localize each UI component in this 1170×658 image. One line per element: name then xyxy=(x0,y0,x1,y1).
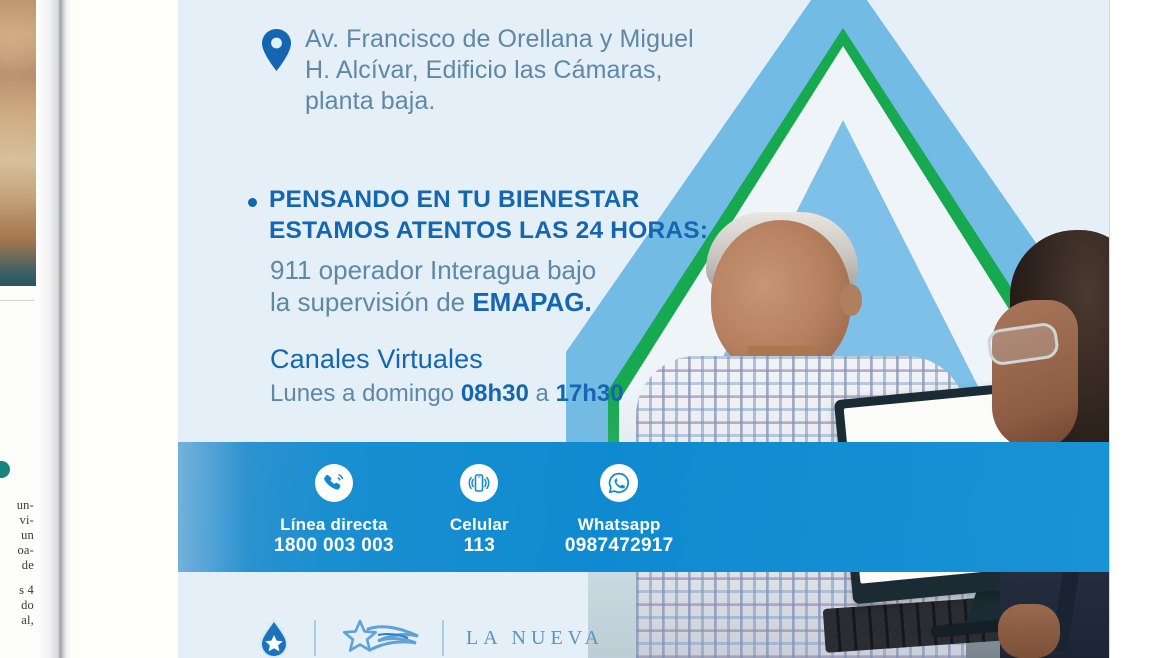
phone-ringing-icon xyxy=(315,464,353,502)
emergency-line-1: 911 operador Interagua bajo xyxy=(270,254,790,286)
page-gutter xyxy=(36,0,70,658)
emapag-mention: EMAPAG. xyxy=(472,287,591,317)
text-fragment: s 4 xyxy=(0,583,34,598)
green-dot-bullet-icon xyxy=(0,461,10,478)
headline-line-2: ESTAMOS ATENTOS LAS 24 HORAS: xyxy=(269,217,708,244)
viewer-right-margin xyxy=(1110,0,1170,658)
bullet-dot-icon xyxy=(248,198,257,207)
virtual-days: Lunes a domingo xyxy=(270,380,461,407)
contact-value: 0987472917 xyxy=(565,535,674,557)
star-swoosh-logo-icon xyxy=(338,616,420,658)
virtual-to: 17h30 xyxy=(556,380,624,407)
mobile-phone-icon xyxy=(460,464,498,502)
screenshot-root: un- vi- un oa- de s 4 do al, xyxy=(0,0,1170,658)
contact-item-linea-directa[interactable]: Línea directa 1800 003 003 xyxy=(274,464,394,557)
advertisement: TRABAJAMOS POR UNA NUEVA CIUDAD xyxy=(178,0,1131,658)
text-fragment: vi- xyxy=(0,513,34,528)
virtual-channels-title: Canales Virtuales xyxy=(270,344,483,375)
contact-label: Línea directa xyxy=(280,514,387,535)
contact-value: 113 xyxy=(464,535,496,557)
virtual-from: 08h30 xyxy=(461,380,529,407)
woman-face xyxy=(992,300,1078,450)
emergency-paragraph: 911 operador Interagua bajo la supervisi… xyxy=(270,254,790,318)
text-fragment: do xyxy=(0,598,34,613)
virtual-sep: a xyxy=(529,380,556,407)
logo-divider xyxy=(442,620,444,656)
contact-item-whatsapp[interactable]: Whatsapp 0987472917 xyxy=(565,464,674,557)
headline-block: PENSANDO EN TU BIENESTAR ESTAMOS ATENTOS… xyxy=(248,184,768,246)
text-fragment: al, xyxy=(0,613,34,628)
location-pin-icon xyxy=(260,28,293,77)
previous-page-photo xyxy=(0,0,36,286)
text-fragment: oa- xyxy=(0,543,34,558)
text-fragment: un xyxy=(0,528,34,543)
man-ear xyxy=(840,284,862,316)
previous-page-rule xyxy=(0,300,34,301)
address-line-2: H. Alcívar, Edificio las Cámaras, xyxy=(305,55,694,86)
virtual-channels-hours: Lunes a domingo 08h30 a 17h30 xyxy=(270,380,624,408)
woman-hand xyxy=(998,604,1060,658)
current-page: TRABAJAMOS POR UNA NUEVA CIUDAD xyxy=(70,0,1110,658)
text-fragment: de xyxy=(0,558,34,573)
contact-label: Celular xyxy=(450,514,509,535)
emergency-line-2-prefix: la supervisión de xyxy=(270,287,472,317)
contact-bar: Línea directa 1800 003 003 xyxy=(178,442,1131,572)
logo-divider xyxy=(314,620,316,656)
headline-line-1: PENSANDO EN TU BIENESTAR xyxy=(269,186,640,213)
address-line-3: planta baja. xyxy=(305,86,694,117)
text-fragment: un- xyxy=(0,498,34,513)
address-block: Av. Francisco de Orellana y Miguel H. Al… xyxy=(260,24,760,117)
contact-label: Whatsapp xyxy=(578,514,661,535)
footer-logo-row: LA NUEVA xyxy=(256,616,604,658)
whatsapp-icon xyxy=(600,464,638,502)
contact-item-celular[interactable]: Celular 113 xyxy=(450,464,509,557)
contact-value: 1800 003 003 xyxy=(274,535,394,557)
address-line-1: Av. Francisco de Orellana y Miguel xyxy=(305,24,694,55)
previous-page-text-column: un- vi- un oa- de s 4 do al, xyxy=(0,498,34,628)
emapag-water-drop-star-logo-icon xyxy=(256,616,292,658)
la-nueva-wordmark: LA NUEVA xyxy=(466,627,604,650)
